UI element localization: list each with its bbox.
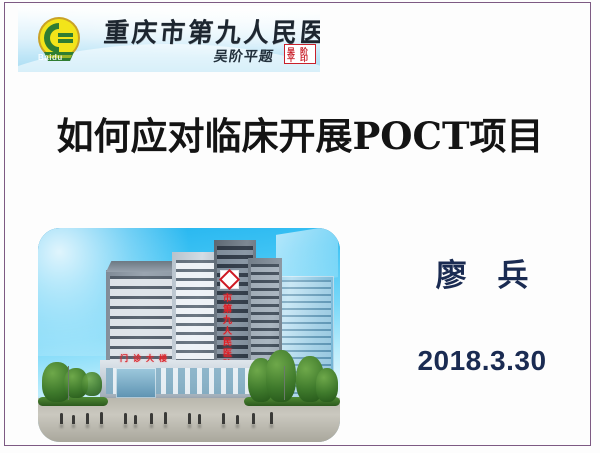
hospital-inscription-text: 吴阶平题 xyxy=(213,46,276,66)
photo-lamp-post xyxy=(284,366,285,400)
seal-character-4: 印 xyxy=(300,54,308,62)
page-title: 如何应对临床开展POCT项目 xyxy=(0,106,600,160)
photo-person xyxy=(252,413,255,424)
photo-person xyxy=(72,415,75,424)
photo-person xyxy=(236,415,239,424)
photo-person xyxy=(134,415,137,424)
banner-watermark-text: Baidu xyxy=(38,53,63,62)
photo-person xyxy=(60,413,63,424)
photo-tree xyxy=(316,368,338,402)
hospital-building-photo: 市第九人民医院 门诊大楼 xyxy=(38,228,340,442)
red-seal-stamp-icon: 吴 阶 平 印 xyxy=(284,44,316,64)
presentation-date: 2018.3.30 xyxy=(392,345,572,377)
photo-person xyxy=(222,413,225,424)
presentation-slide: 重庆市第九人民医院 吴阶平题 吴 阶 平 印 Baidu 如何应对临床开展POC… xyxy=(0,0,600,453)
photo-entrance xyxy=(116,368,156,398)
photo-person xyxy=(164,412,167,424)
photo-person xyxy=(270,412,273,424)
photo-person xyxy=(124,413,127,424)
photo-lamp-post xyxy=(68,366,69,400)
cross-shape xyxy=(219,269,240,290)
red-medical-cross-icon xyxy=(220,270,239,289)
photo-person xyxy=(100,412,103,424)
presenter-name: 廖 兵 xyxy=(392,250,572,295)
photo-person xyxy=(86,413,89,424)
photo-tree xyxy=(266,350,296,402)
photo-tree xyxy=(82,372,102,396)
seal-character-3: 平 xyxy=(287,54,295,62)
hospital-header-banner: 重庆市第九人民医院 吴阶平题 吴 阶 平 印 Baidu xyxy=(18,6,320,72)
photo-person xyxy=(198,414,201,424)
photo-person xyxy=(150,413,153,424)
photo-entrance-sign-text: 门诊大楼 xyxy=(120,353,172,364)
photo-person xyxy=(188,413,191,424)
